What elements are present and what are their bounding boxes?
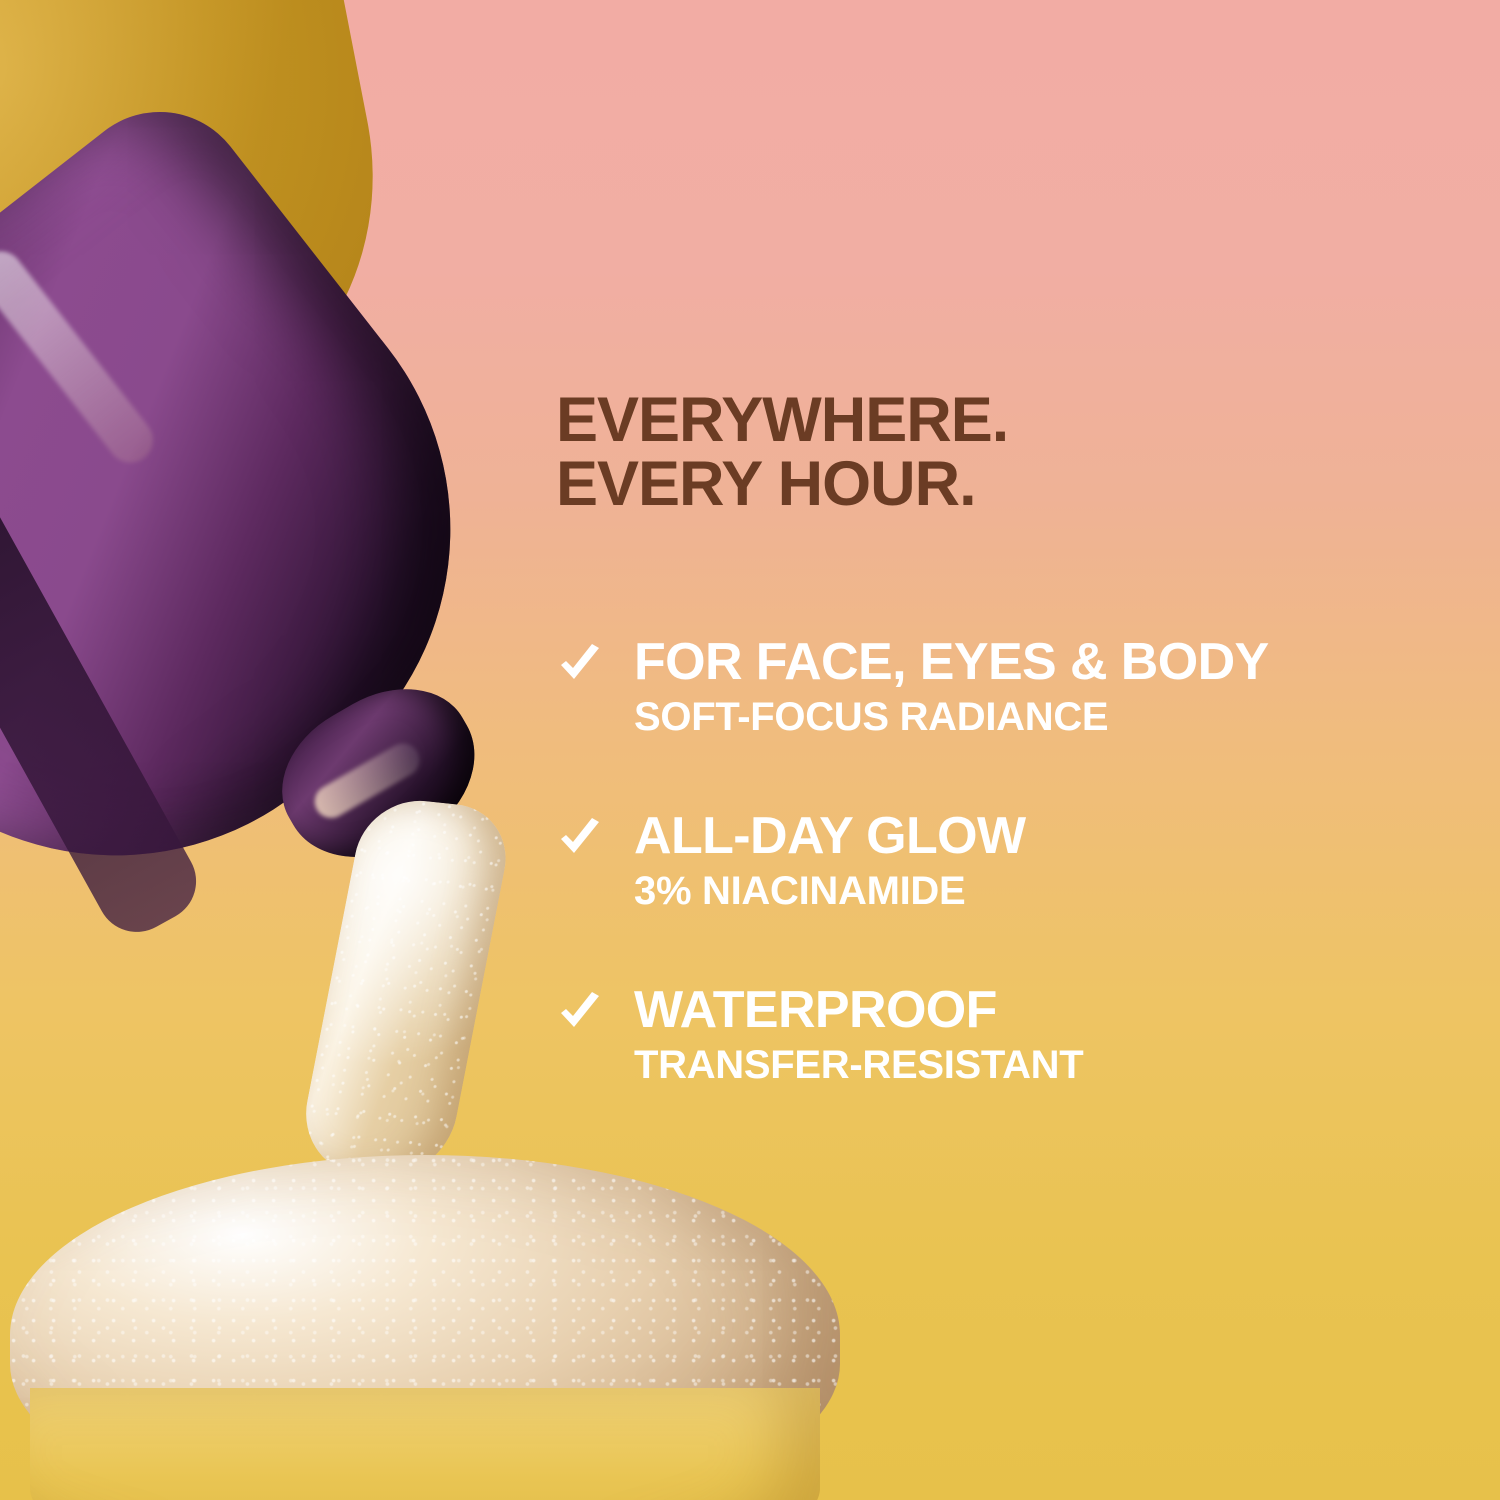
- page-title: EVERYWHERE. EVERY HOUR.: [556, 388, 1456, 517]
- headline-line-1: EVERYWHERE.: [556, 388, 1456, 452]
- feature-subtitle: TRANSFER-RESISTANT: [634, 1043, 1456, 1087]
- bottle-body: [0, 76, 569, 974]
- feature-subtitle: SOFT-FOCUS RADIANCE: [634, 695, 1456, 739]
- cream-stream: [294, 795, 516, 1185]
- list-item: FOR FACE, EYES & BODY SOFT-FOCUS RADIANC…: [556, 635, 1456, 739]
- list-item: WATERPROOF TRANSFER-RESISTANT: [556, 983, 1456, 1087]
- feature-list: FOR FACE, EYES & BODY SOFT-FOCUS RADIANC…: [556, 635, 1456, 1087]
- cream-base: [30, 1388, 820, 1500]
- bottle-nozzle: [256, 660, 504, 890]
- check-icon: [556, 641, 604, 689]
- product-ad-canvas: EVERYWHERE. EVERY HOUR. FOR FACE, EYES &…: [0, 0, 1500, 1500]
- feature-title: FOR FACE, EYES & BODY: [634, 635, 1456, 690]
- feature-title: ALL-DAY GLOW: [634, 809, 1456, 864]
- check-icon: [556, 989, 604, 1037]
- bottle-cap: [0, 0, 419, 484]
- cream-dome: [10, 1155, 840, 1500]
- copy-block: EVERYWHERE. EVERY HOUR. FOR FACE, EYES &…: [556, 388, 1456, 1087]
- list-item: ALL-DAY GLOW 3% NIACINAMIDE: [556, 809, 1456, 913]
- feature-title: WATERPROOF: [634, 983, 1456, 1038]
- headline-line-2: EVERY HOUR.: [556, 452, 1456, 516]
- check-icon: [556, 815, 604, 863]
- feature-subtitle: 3% NIACINAMIDE: [634, 869, 1456, 913]
